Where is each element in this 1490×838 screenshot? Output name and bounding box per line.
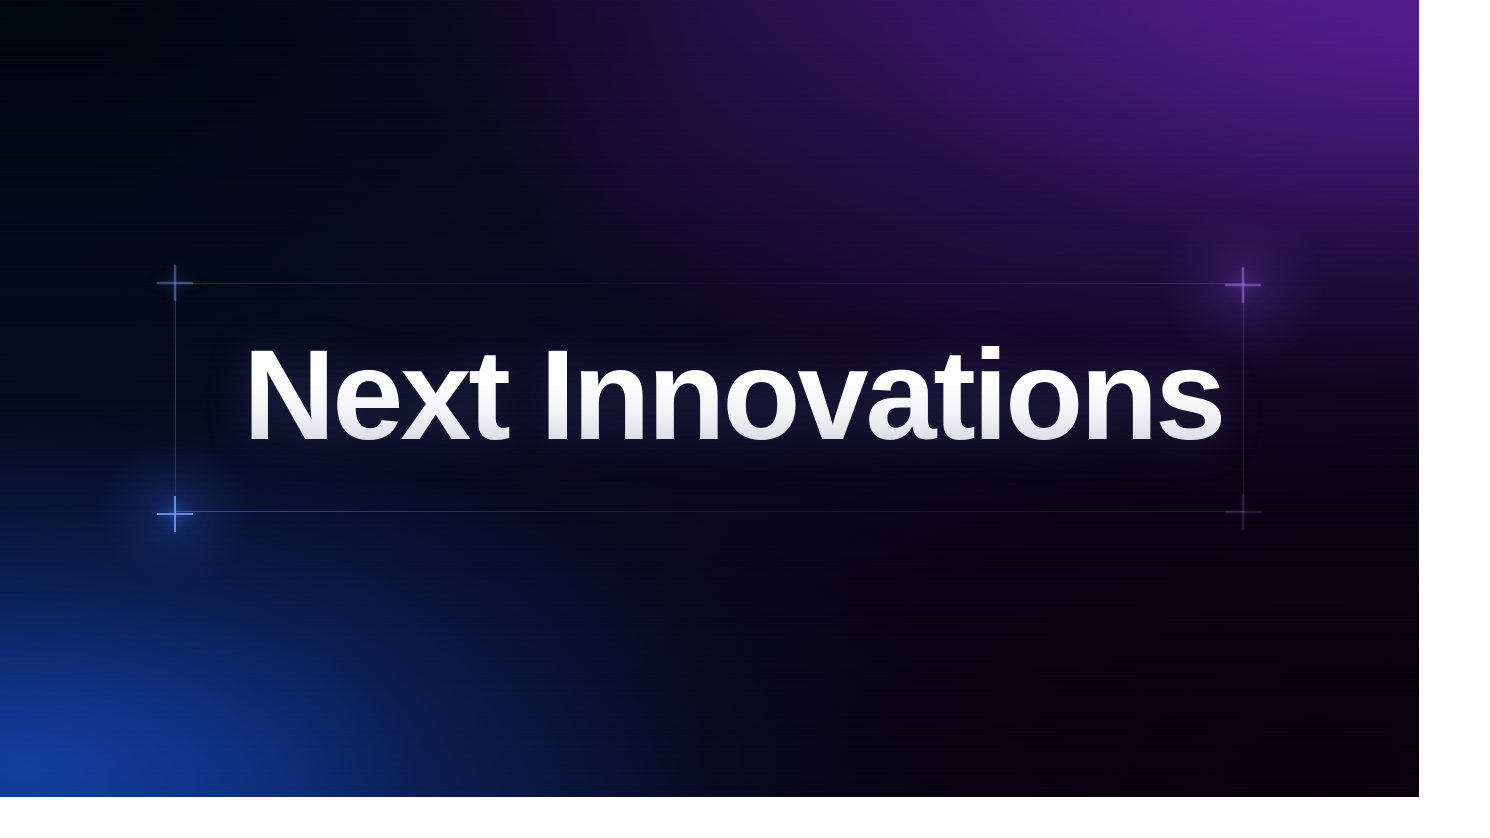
crosshair-top-left-icon [153,261,197,305]
crosshair-bottom-left-icon [153,492,197,536]
slide-title: Next Innovations [243,332,1223,460]
guide-line-left [175,270,176,520]
crosshair-glow-bottom-left [100,439,250,589]
presentation-slide[interactable]: Next Innovations [0,0,1419,797]
guide-line-right [1243,270,1244,520]
crosshair-top-right-icon [1221,263,1265,307]
crosshair-bottom-right-icon [1221,490,1265,534]
page-right-margin [1419,0,1490,838]
page-bottom-margin [0,797,1490,838]
guide-line-top [175,283,1245,284]
page-root: Next Innovations [0,0,1490,838]
guide-line-bottom [175,511,1245,512]
